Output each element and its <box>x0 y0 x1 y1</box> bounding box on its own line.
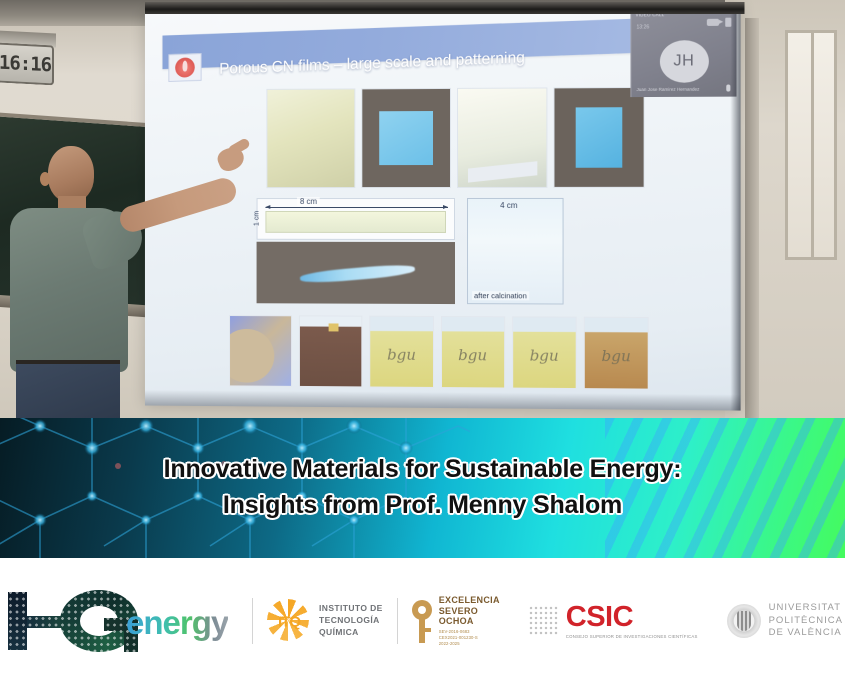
severo-ochoa-wordmark: EXCELENCIA SEVERO OCHOA <box>439 595 500 627</box>
sample-photo <box>553 87 644 188</box>
logo-divider <box>252 598 253 644</box>
handwriting-bgu: bgu <box>530 347 559 365</box>
so-line-2: SEVERO <box>439 606 500 617</box>
dimension-label-sheet: 4 cm <box>500 201 517 210</box>
logo-severo-ochoa[interactable]: EXCELENCIA SEVERO OCHOA SEV-2016-0683 CE… <box>412 595 500 647</box>
severo-ochoa-key-icon <box>412 598 432 644</box>
patterned-sample: bgu <box>441 316 505 388</box>
screen-shadow-right <box>730 5 740 410</box>
severo-ochoa-grant-codes: SEV-2016-0683 CEX2021-001230-S 2022-2025 <box>439 629 500 647</box>
film-strip <box>265 211 446 233</box>
upv-line-1: UNIVERSITAT <box>769 602 843 614</box>
video-call-time: 13:26 <box>637 24 650 30</box>
film-tube-photo <box>257 242 455 304</box>
slide-middle-block: 8 cm 1 cm 4 cm after calcination <box>257 198 574 309</box>
csic-wordmark: CSIC <box>566 603 698 632</box>
presenter-figure <box>0 138 240 418</box>
lecture-photo: 16:16 Porous CN films – large scale and … <box>0 0 845 418</box>
window <box>785 30 837 260</box>
csic-emblem-icon <box>529 606 559 636</box>
patterned-sample: bgu <box>584 317 649 390</box>
presenter-head <box>48 146 94 202</box>
flame-glyph <box>175 57 195 77</box>
patterned-sample: bgu <box>370 316 434 388</box>
title-line-2: Insights from Prof. Menny Shalom <box>0 488 845 524</box>
wall-clock: 16:16 <box>0 43 54 86</box>
participant-name: Juan Jose Ramirez Hernandez <box>637 87 700 92</box>
so-line-3: OCHOA <box>439 616 500 627</box>
dimension-arrow <box>265 207 448 208</box>
logo-itq[interactable]: ITQ INSTITUTO DE TECNOLOGÍA QUÍMICA <box>267 599 383 643</box>
handwriting-bgu: bgu <box>458 346 487 364</box>
video-call-icons <box>707 18 732 27</box>
upv-line-2: POLITÈCNICA <box>769 615 843 627</box>
camera-icon <box>707 19 719 26</box>
logo-upv[interactable]: UNIVERSITAT POLITÈCNICA DE VALÈNCIA <box>727 602 843 639</box>
title-banner: Innovative Materials for Sustainable Ene… <box>0 418 845 558</box>
handwriting-bgu: bgu <box>387 346 416 364</box>
itq-line-3: QUÍMICA <box>319 627 383 639</box>
sample-photo <box>266 88 355 188</box>
upv-seal-icon <box>727 604 761 638</box>
avatar: JH <box>659 40 708 83</box>
brown-film-photo <box>299 315 363 387</box>
dimension-label-height: 1 cm <box>254 211 261 226</box>
sample-photo <box>457 87 547 188</box>
itq-monogram: ITQ <box>278 613 300 630</box>
itq-line-1: INSTITUTO DE <box>319 603 383 615</box>
bgu-seal-icon <box>168 53 201 82</box>
logo-csic[interactable]: CSIC CONSEJO SUPERIOR DE INVESTIGACIONES… <box>529 603 698 639</box>
calcination-caption: after calcination <box>472 291 529 300</box>
presenter-arm <box>117 175 239 235</box>
so-line-1: EXCELENCIA <box>439 595 500 606</box>
itq-line-2: TECNOLOGÍA <box>319 615 383 627</box>
handwriting-bgu: bgu <box>602 347 631 365</box>
so-code-3: 2022-2025 <box>439 641 500 647</box>
glowing-tube <box>300 263 416 285</box>
title-line-1: Innovative Materials for Sustainable Ene… <box>164 455 682 483</box>
clock-time: 16:16 <box>0 52 51 77</box>
patterned-sample: bgu <box>512 316 577 389</box>
logo-divider <box>397 598 398 644</box>
sample-photo-row-bottom: bgu bgu bgu bgu <box>229 315 649 390</box>
long-film-panel: 8 cm 1 cm <box>257 198 455 240</box>
logo-hg-energy[interactable]: energy <box>2 590 238 652</box>
sample-photo <box>361 88 451 188</box>
video-call-panel: VIDEO CALL 13:26 JH Juan Jose Ramirez He… <box>630 10 736 98</box>
itq-wordmark: INSTITUTO DE TECNOLOGÍA QUÍMICA <box>319 603 383 638</box>
door-frame <box>745 18 759 418</box>
projection-screen-rod <box>145 2 745 14</box>
dimension-label-width: 8 cm <box>297 197 320 206</box>
calcined-sheet-panel: 4 cm after calcination <box>467 198 564 305</box>
presenter-ear <box>40 172 50 186</box>
page-title: Innovative Materials for Sustainable Ene… <box>0 452 845 523</box>
hg-energy-wordmark: energy <box>126 604 228 642</box>
sponsor-logo-bar: energy ITQ INSTITUTO DE TECNOLOGÍA QUÍMI… <box>0 558 845 684</box>
sample-photo-row-top <box>266 87 644 188</box>
csic-subtitle: CONSEJO SUPERIOR DE INVESTIGACIONES CIEN… <box>566 634 698 639</box>
upv-wordmark: UNIVERSITAT POLITÈCNICA DE VALÈNCIA <box>769 602 843 639</box>
presenter-jeans <box>16 364 120 418</box>
upv-line-3: DE VALÈNCIA <box>769 627 843 639</box>
